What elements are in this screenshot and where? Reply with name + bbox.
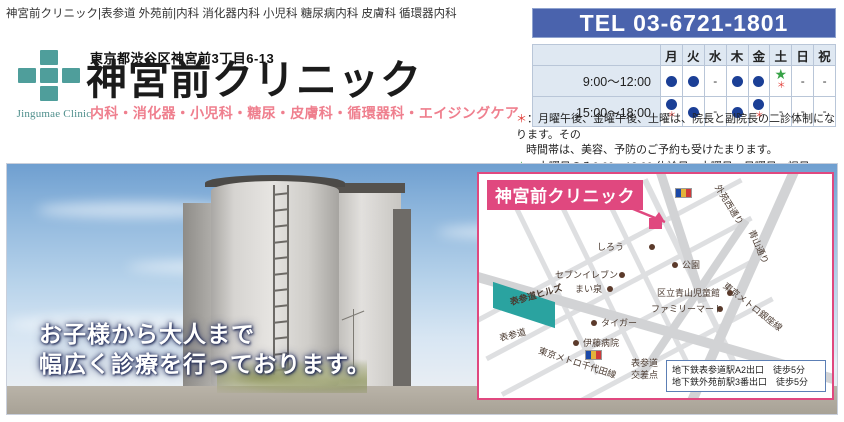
clinic-name: 神宮前クリニック [86, 58, 422, 102]
map-road-label-chiyoda-line: 東京メトロ千代田線 [537, 344, 618, 381]
day-header-wed: 水 [704, 45, 726, 66]
location-map[interactable]: 神宮前クリニック しろう 公園 セブンイレブン まい泉 区立青山児童館 [477, 172, 834, 400]
map-canvas: 神宮前クリニック しろう 公園 セブンイレブン まい泉 区立青山児童館 [479, 174, 832, 398]
day-header-tue: 火 [682, 45, 704, 66]
schedule-corner-cell [533, 45, 661, 66]
map-label-shirou: しろう [597, 240, 624, 253]
map-label-park: 公園 [682, 258, 700, 271]
banner-caption-line-1: お子様から大人まで [39, 319, 371, 349]
day-header-mon: 月 [661, 45, 683, 66]
schedule-cell: - [814, 66, 836, 97]
closed-dash-icon: - [801, 74, 805, 88]
note-line-1: ＊：月曜午後、金曜午後、土曜は、院長と副院長の二診体制になります。その [516, 112, 842, 143]
day-header-sat: 土 [770, 45, 792, 66]
map-dot-shirou [649, 244, 655, 250]
hero-banner: お子様から大人まで 幅広く診療を行っております。 [6, 163, 838, 415]
map-flag-icon [675, 188, 692, 198]
schedule-time-label: 9:00〜12:00 [533, 66, 661, 97]
banner-caption: お子様から大人まで 幅広く診療を行っております。 [39, 319, 371, 379]
page-title-line: 神宮前クリニック|表参道 外苑前|内科 消化器内科 小児科 糖尿病内科 皮膚科 … [6, 5, 457, 21]
note-text-1: ：月曜午後、金曜午後、土曜は、院長と副院長の二診体制になります。その [516, 113, 835, 141]
building-dark-edge [393, 209, 411, 386]
map-label-maisen: まい泉 [575, 282, 602, 295]
logo-english-name: Jingumae Clinic [11, 108, 97, 120]
open-circle-icon [753, 99, 764, 110]
open-circle-icon [688, 76, 699, 87]
schedule-cell: - [792, 66, 814, 97]
open-circle-icon [666, 76, 677, 87]
map-dot-park [672, 262, 678, 268]
schedule-cell: ★＊ [770, 66, 792, 97]
clinic-departments: 内科・消化器・小児科・糖尿・皮膚科・循環器科・エイジングケア [90, 103, 519, 123]
map-label-seven-eleven: セブンイレブン [555, 268, 618, 281]
clinic-logo: Jingumae Clinic [18, 50, 88, 120]
day-header-thu: 木 [726, 45, 748, 66]
closed-dash-icon: - [713, 74, 717, 88]
map-dot-ito-hospital [573, 340, 579, 346]
map-dot-seven-eleven [619, 272, 625, 278]
medical-cross-icon [18, 50, 82, 104]
asterisk-symbol: ＊ [516, 113, 527, 125]
clinic-location-marker [649, 218, 662, 229]
day-header-holiday: 祝 [814, 45, 836, 66]
map-dot-tiger [591, 320, 597, 326]
banner-caption-line-2: 幅広く診療を行っております。 [39, 349, 371, 379]
schedule-cell [748, 66, 770, 97]
schedule-cell [661, 66, 683, 97]
open-circle-icon [666, 99, 677, 110]
access-line-1: 地下鉄表参道駅A2出口 徒歩5分 [672, 364, 820, 376]
access-line-2: 地下鉄外苑前駅3番出口 徒歩5分 [672, 376, 820, 388]
schedule-header-row: 月 火 水 木 金 土 日 祝 [533, 45, 836, 66]
schedule-row: 9:00〜12:00-★＊-- [533, 66, 836, 97]
note-line-2: 時間帯は、美容、予防のご予約も受けたまります。 [516, 143, 842, 159]
map-label-ito-hospital: 伊藤病院 [583, 336, 619, 349]
map-label-jidokan: 区立青山児童館 [657, 286, 720, 299]
day-header-sun: 日 [792, 45, 814, 66]
telephone-banner[interactable]: TEL 03-6721-1801 [532, 8, 836, 38]
closed-dash-icon: - [823, 74, 827, 88]
schedule-cell [726, 66, 748, 97]
map-access-box: 地下鉄表参道駅A2出口 徒歩5分 地下鉄外苑前駅3番出口 徒歩5分 [666, 360, 826, 392]
map-label-familymart: ファミリーマート [651, 302, 723, 315]
schedule-cell [682, 66, 704, 97]
page-root: 神宮前クリニック|表参道 外苑前|内科 消化器内科 小児科 糖尿病内科 皮膚科 … [0, 0, 844, 422]
open-circle-icon [732, 76, 743, 87]
day-header-fri: 金 [748, 45, 770, 66]
map-label-tiger: タイガー [601, 316, 637, 329]
map-dot-maisen [607, 286, 613, 292]
red-asterisk-icon: ＊ [777, 80, 786, 90]
map-label-intersection-line2: 交差点 [631, 368, 658, 381]
open-circle-icon [753, 76, 764, 87]
schedule-cell: - [704, 66, 726, 97]
